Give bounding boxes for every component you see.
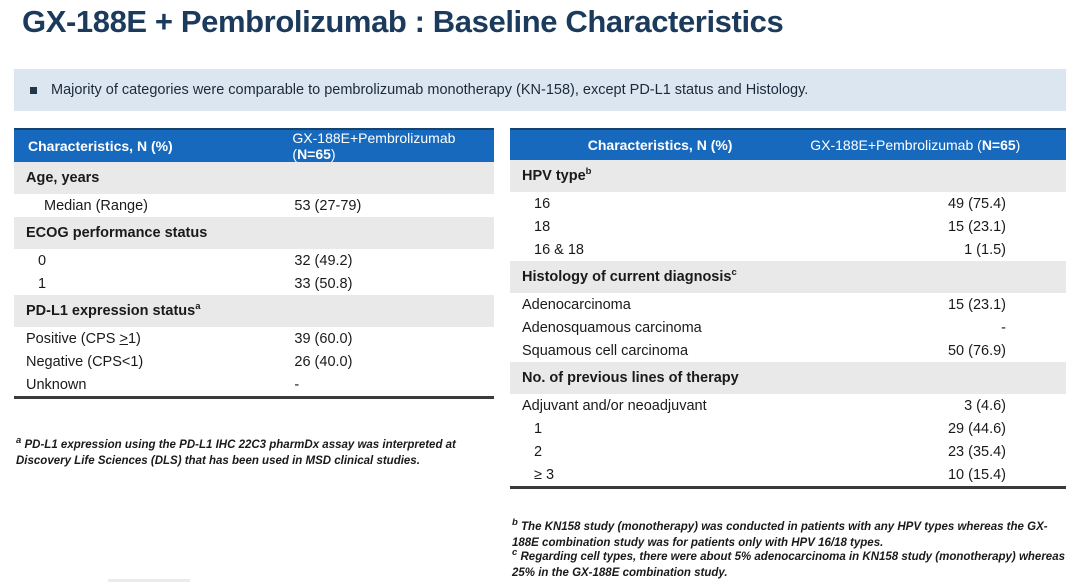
footnote-b-text: The KN158 study (monotherapy) was conduc… [512, 521, 1048, 549]
row-value: 15 (23.1) [810, 215, 1066, 238]
section-header-row: HPV typeb [510, 160, 1066, 192]
row-label: Unknown [14, 373, 292, 396]
footnote-marker-c: c [731, 267, 736, 278]
row-value: 33 (50.8) [292, 272, 494, 295]
footnote-marker-b: b [512, 517, 518, 528]
page-title: GX-188E + Pembrolizumab : Baseline Chara… [22, 4, 783, 40]
column-header-treatment-arm: GX-188E+Pembrolizumab (N=65) [292, 129, 494, 162]
table-row: 0 32 (49.2) [14, 249, 494, 272]
row-value: 3 (4.6) [810, 394, 1066, 417]
table-row: Median (Range) 53 (27-79) [14, 194, 494, 217]
table-row: 18 15 (23.1) [510, 215, 1066, 238]
footnote-c: c Regarding cell types, there were about… [512, 549, 1068, 582]
row-value: 15 (23.1) [810, 293, 1066, 316]
table-header-row: Characteristics, N (%) GX-188E+Pembroliz… [14, 129, 494, 162]
section-header-row: Age, years [14, 162, 494, 194]
row-label: 1 [510, 417, 810, 440]
table-row: Unknown - [14, 373, 494, 396]
table-header-row: Characteristics, N (%) GX-188E+Pembroliz… [510, 129, 1066, 160]
table-row: Adenocarcinoma 15 (23.1) [510, 293, 1066, 316]
table-row: 16 49 (75.4) [510, 192, 1066, 215]
right-table: Characteristics, N (%) GX-188E+Pembroliz… [510, 128, 1066, 486]
table-bottom-rule [14, 396, 494, 399]
footnote-marker-b: b [586, 166, 592, 177]
table-row: 1 29 (44.6) [510, 417, 1066, 440]
row-value: 32 (49.2) [292, 249, 494, 272]
row-label: Negative (CPS<1) [14, 350, 292, 373]
footnote-b: b The KN158 study (monotherapy) was cond… [512, 519, 1068, 552]
row-value: 39 (60.0) [292, 327, 494, 350]
table-bottom-rule [510, 486, 1066, 489]
footnote-marker-c: c [512, 547, 517, 558]
row-label: 0 [14, 249, 292, 272]
row-value: 50 (76.9) [810, 339, 1066, 362]
row-label: Median (Range) [14, 194, 292, 217]
table-row: ≥ 3 10 (15.4) [510, 463, 1066, 486]
table-row: Squamous cell carcinoma 50 (76.9) [510, 339, 1066, 362]
row-label: Positive (CPS >1) [14, 327, 292, 350]
section-title-ecog: ECOG performance status [14, 217, 292, 249]
row-label: 16 & 18 [510, 238, 810, 261]
row-label: Adenocarcinoma [510, 293, 810, 316]
table-row: Negative (CPS<1) 26 (40.0) [14, 350, 494, 373]
table-row: 2 23 (35.4) [510, 440, 1066, 463]
column-header-characteristics: Characteristics, N (%) [14, 129, 292, 162]
square-bullet-icon [30, 87, 37, 94]
baseline-characteristics-table-right: Characteristics, N (%) GX-188E+Pembroliz… [510, 128, 1066, 489]
row-value: 53 (27-79) [292, 194, 494, 217]
column-header-treatment-arm: GX-188E+Pembrolizumab (N=65) [810, 129, 1066, 160]
footnote-a: a PD-L1 expression using the PD-L1 IHC 2… [16, 437, 494, 470]
row-value: 10 (15.4) [810, 463, 1066, 486]
table-row: Adenosquamous carcinoma - [510, 316, 1066, 339]
footnote-marker-a: a [195, 301, 200, 312]
left-table: Characteristics, N (%) GX-188E+Pembroliz… [14, 128, 494, 396]
row-value: 23 (35.4) [810, 440, 1066, 463]
baseline-characteristics-table-left: Characteristics, N (%) GX-188E+Pembroliz… [14, 128, 494, 399]
summary-callout: Majority of categories were comparable t… [14, 69, 1066, 111]
row-label: 1 [14, 272, 292, 295]
table-row: Positive (CPS >1) 39 (60.0) [14, 327, 494, 350]
callout-text: Majority of categories were comparable t… [51, 82, 808, 98]
row-label: 16 [510, 192, 810, 215]
section-title-previous-therapy: No. of previous lines of therapy [510, 362, 810, 394]
row-label: Adenosquamous carcinoma [510, 316, 810, 339]
row-value: 29 (44.6) [810, 417, 1066, 440]
cropped-logo-fragment [108, 579, 190, 582]
row-label: 18 [510, 215, 810, 238]
row-label: Squamous cell carcinoma [510, 339, 810, 362]
section-header-row: Histology of current diagnosisc [510, 261, 1066, 293]
table-row: 16 & 18 1 (1.5) [510, 238, 1066, 261]
section-title-pdl1: PD-L1 expression statusa [14, 295, 292, 327]
table-row: Adjuvant and/or neoadjuvant 3 (4.6) [510, 394, 1066, 417]
section-header-row: No. of previous lines of therapy [510, 362, 1066, 394]
table-row: 1 33 (50.8) [14, 272, 494, 295]
footnote-marker-a: a [16, 435, 21, 446]
row-value: - [810, 316, 1066, 339]
section-header-row: PD-L1 expression statusa [14, 295, 494, 327]
row-value: 1 (1.5) [810, 238, 1066, 261]
row-label: 2 [510, 440, 810, 463]
section-title-hpv-type: HPV typeb [510, 160, 810, 192]
column-header-characteristics: Characteristics, N (%) [510, 129, 810, 160]
row-value: 26 (40.0) [292, 350, 494, 373]
row-value: 49 (75.4) [810, 192, 1066, 215]
row-value: - [292, 373, 494, 396]
footnote-a-text: PD-L1 expression using the PD-L1 IHC 22C… [16, 439, 456, 467]
section-title-histology: Histology of current diagnosisc [510, 261, 810, 293]
section-title-age: Age, years [14, 162, 292, 194]
row-label: Adjuvant and/or neoadjuvant [510, 394, 810, 417]
footnote-c-text: Regarding cell types, there were about 5… [512, 551, 1065, 579]
row-label: ≥ 3 [510, 463, 810, 486]
section-header-row: ECOG performance status [14, 217, 494, 249]
